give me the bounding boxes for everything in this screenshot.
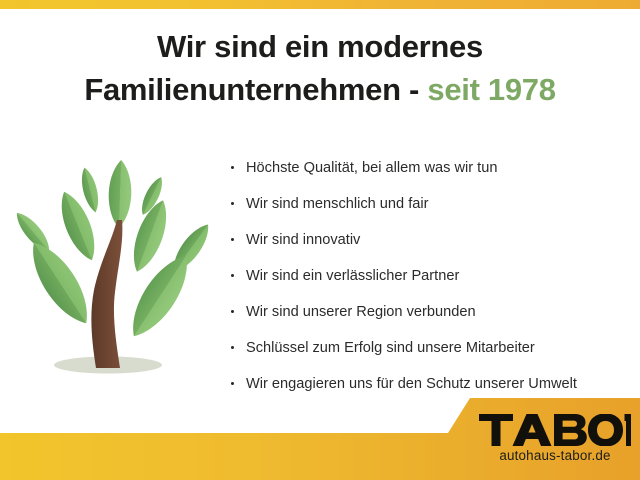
list-item: Wir sind ein verlässlicher Partner (228, 258, 640, 294)
list-item: Wir sind menschlich und fair (228, 186, 640, 222)
bullet-dot-icon (231, 274, 234, 277)
values-list: Höchste Qualität, bei allem was wir tun … (228, 150, 640, 402)
bullet-dot-icon (231, 238, 234, 241)
list-item-label: Höchste Qualität, bei allem was wir tun (246, 160, 497, 176)
tree-illustration (8, 158, 222, 394)
list-item: Höchste Qualität, bei allem was wir tun (228, 150, 640, 186)
bullet-dot-icon (231, 310, 234, 313)
tabor-wordmark-icon (479, 414, 631, 446)
headline-accent-year: seit 1978 (427, 72, 555, 107)
list-item: Wir sind innovativ (228, 222, 640, 258)
leaf-top-center (108, 160, 133, 229)
headline-line-2: Familienunternehmen - seit 1978 (0, 69, 640, 112)
list-item: Schlüssel zum Erfolg sind unsere Mitarbe… (228, 330, 640, 366)
list-item-label: Wir sind unserer Region verbunden (246, 304, 476, 320)
logo-url-label[interactable]: autohaus-tabor.de (479, 448, 631, 463)
list-item-label: Schlüssel zum Erfolg sind unsere Mitarbe… (246, 340, 535, 356)
tree-icon (8, 158, 222, 394)
slide-canvas: Wir sind ein modernes Familienunternehme… (0, 0, 640, 480)
tabor-logo[interactable] (479, 414, 631, 446)
headline-line-2-plain: Familienunternehmen - (84, 72, 427, 107)
list-item-label: Wir sind innovativ (246, 232, 360, 248)
leaf-top-left-small (78, 166, 102, 214)
page-title: Wir sind ein modernes Familienunternehme… (0, 26, 640, 112)
bullet-dot-icon (231, 382, 234, 385)
list-item-label: Wir sind menschlich und fair (246, 196, 429, 212)
tree-trunk (91, 220, 122, 368)
bullet-dot-icon (231, 202, 234, 205)
headline-line-1: Wir sind ein modernes (0, 26, 640, 69)
bullet-dot-icon (231, 346, 234, 349)
leaf-far-left-small (11, 208, 55, 256)
bullet-dot-icon (231, 166, 234, 169)
list-item-label: Wir sind ein verlässlicher Partner (246, 268, 459, 284)
top-accent-bar (0, 0, 640, 9)
list-item: Wir sind unserer Region verbunden (228, 294, 640, 330)
